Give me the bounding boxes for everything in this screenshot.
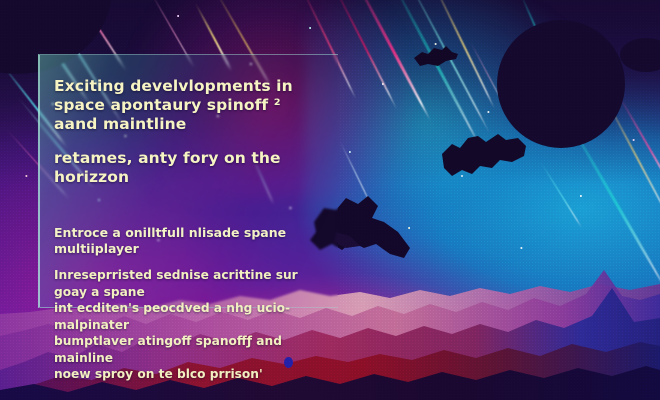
body-line-1: Inreseprristed sednise acrittine sur goa… <box>54 267 322 300</box>
space-banner-scene: Exciting develvlopments in space apontau… <box>0 0 660 400</box>
body-copy: Inreseprristed sednise acrittine sur goa… <box>54 267 322 383</box>
headline-line-3: retames, anty fory on the horizzon <box>54 149 322 187</box>
text-overlay-panel: Exciting develvlopments in space apontau… <box>38 54 338 308</box>
body-line-2: int ecditen's peocdved a nhg ucio-malpin… <box>54 300 322 333</box>
body-line-4: noew sproy on te blco prrison' <box>54 366 322 383</box>
subtitle: Entroce a onilltfull nlisade spane multi… <box>54 225 322 257</box>
body-line-3: bumptlaver atingoff spanoffƒ and mainlin… <box>54 333 322 366</box>
headline: Exciting develvlopments in space apontau… <box>54 77 322 187</box>
